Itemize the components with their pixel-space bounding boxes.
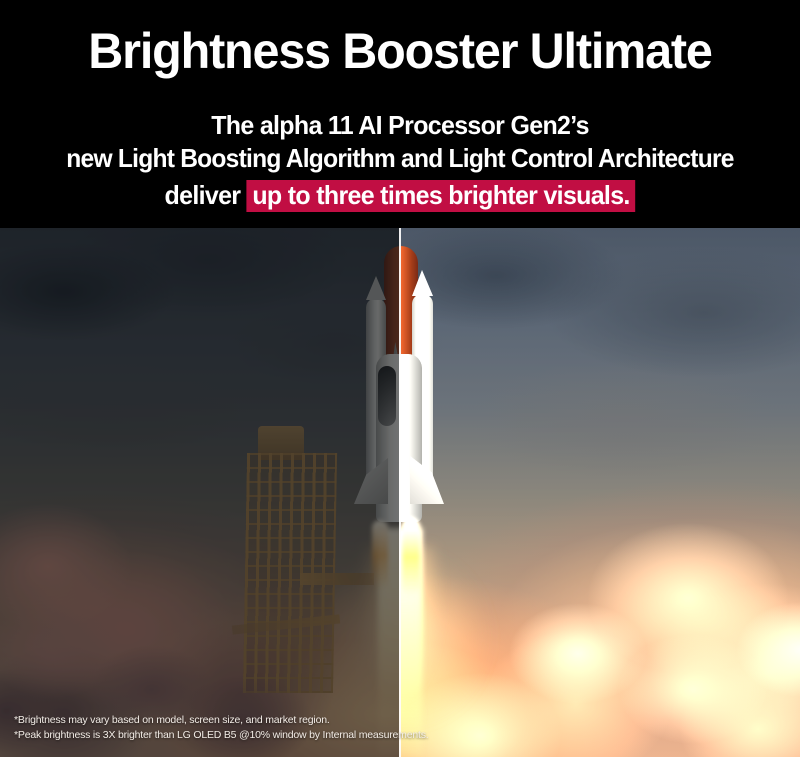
promo-banner: Brightness Booster Ultimate The alpha 11… — [0, 0, 800, 757]
footnote-brightness-disclaimer: *Brightness may vary based on model, scr… — [14, 713, 428, 728]
orbiter-heat-tiles — [378, 366, 396, 426]
text-header-block: Brightness Booster Ultimate The alpha 11… — [0, 0, 800, 228]
subheading-line-3-prefix: deliver — [165, 180, 247, 210]
footnote-block: *Brightness may vary based on model, scr… — [14, 713, 428, 743]
highlighted-claim: up to three times brighter visuals. — [247, 180, 636, 212]
subheading-line-1: The alpha 11 AI Processor Gen2’s — [16, 110, 784, 140]
page-title: Brightness Booster Ultimate — [12, 22, 788, 80]
launch-scene — [0, 228, 800, 757]
booster-flame-left — [372, 520, 388, 590]
booster-flame-right — [402, 518, 420, 596]
smoke-billow-right — [470, 558, 800, 757]
rocket-launch-photo: *Brightness may vary based on model, scr… — [0, 228, 800, 757]
subheading-line-2: new Light Boosting Algorithm and Light C… — [22, 143, 778, 173]
footnote-peak-brightness: *Peak brightness is 3X brighter than LG … — [14, 728, 428, 743]
comparison-divider — [399, 228, 401, 757]
subheading-line-3: deliver up to three times brighter visua… — [16, 180, 784, 212]
